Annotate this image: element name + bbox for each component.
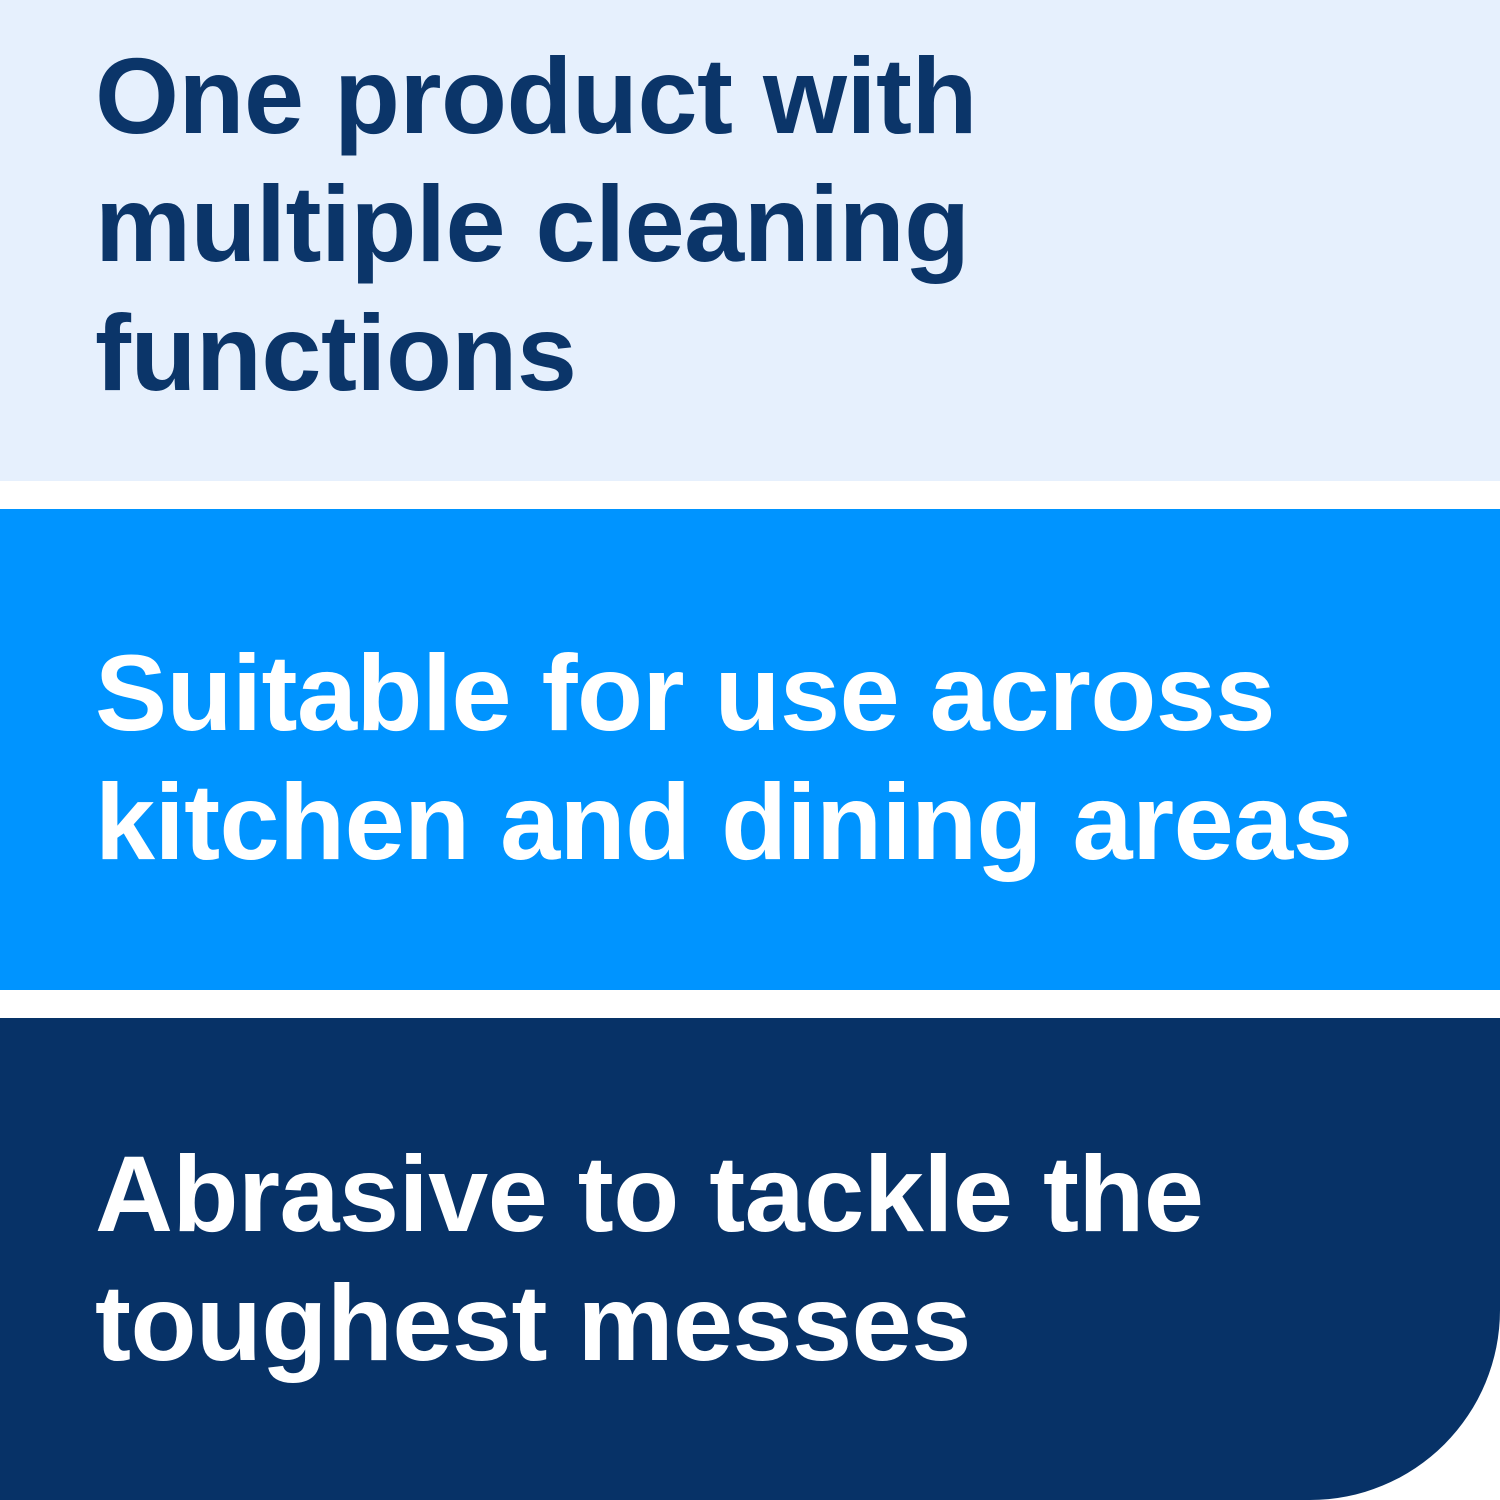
- feature-band-stack: One product with multiple cleaning funct…: [0, 0, 1500, 1500]
- band-separator-two: [0, 990, 1500, 1018]
- feature-band-one: One product with multiple cleaning funct…: [0, 0, 1500, 481]
- feature-band-three-text: Abrasive to tackle the toughest messes: [0, 1130, 1500, 1387]
- feature-band-two-text: Suitable for use across kitchen and dini…: [0, 629, 1500, 886]
- feature-band-three: Abrasive to tackle the toughest messes: [0, 1018, 1500, 1500]
- feature-band-one-text: One product with multiple cleaning funct…: [0, 32, 1500, 418]
- band-separator-one: [0, 481, 1500, 509]
- feature-band-two: Suitable for use across kitchen and dini…: [0, 509, 1500, 990]
